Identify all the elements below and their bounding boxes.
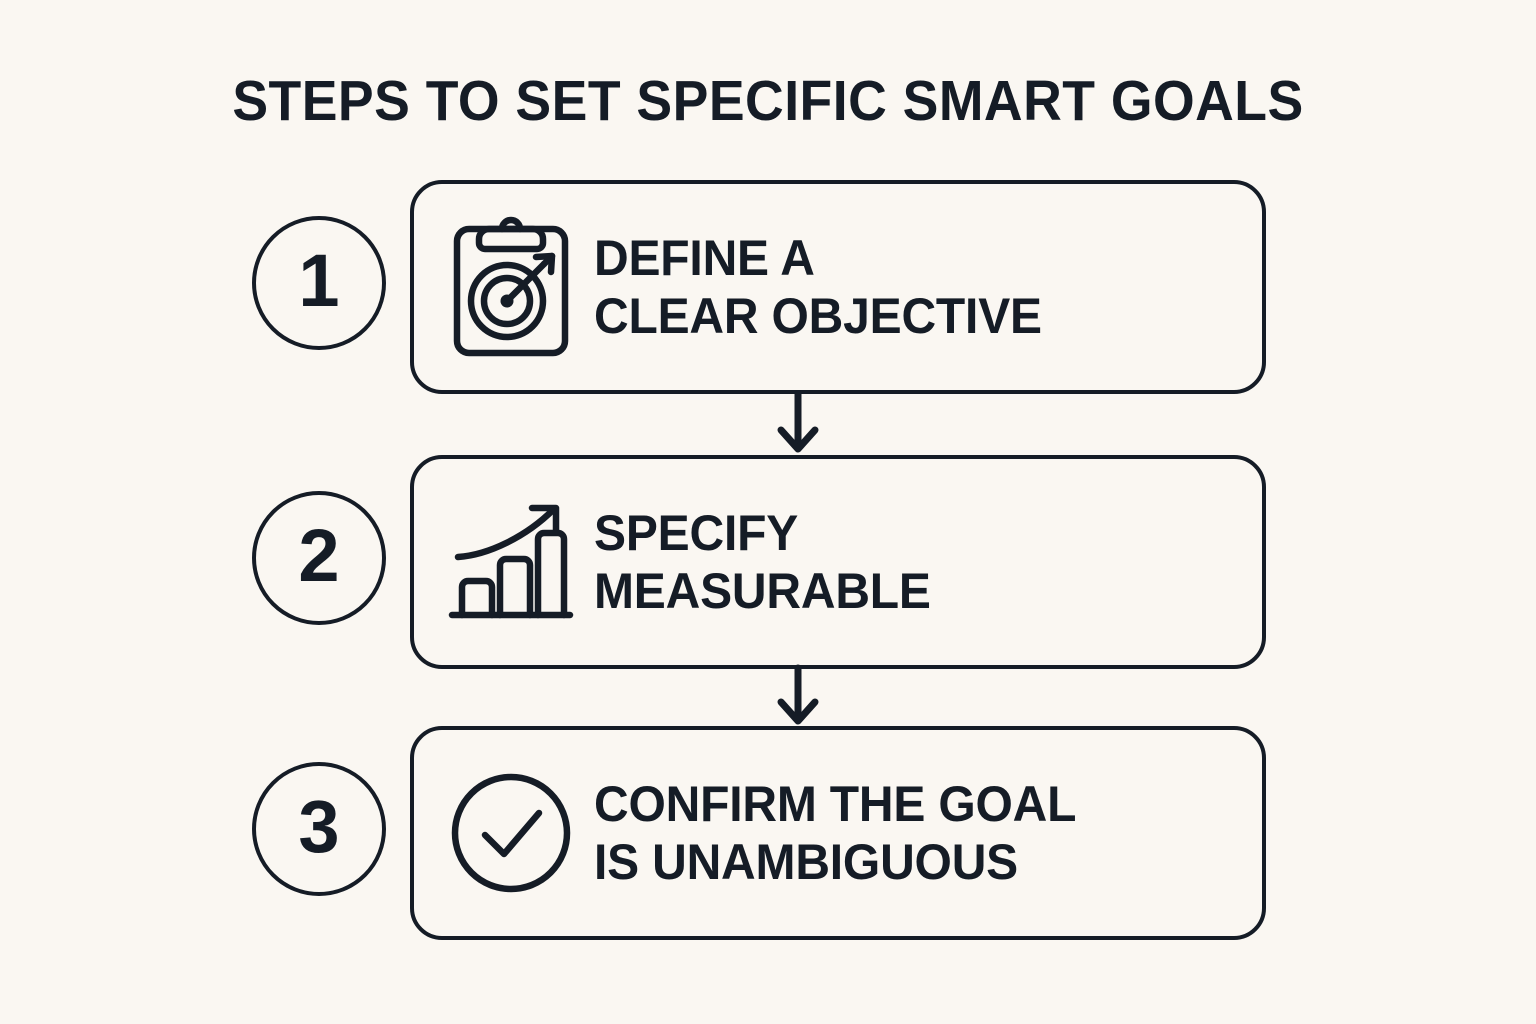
step-card-3[interactable]: CONFIRM THE GOAL IS UNAMBIGUOUS — [410, 726, 1266, 940]
step-number-label-2: 2 — [298, 519, 339, 593]
step-card-2[interactable]: SPECIFY MEASURABLE — [410, 455, 1266, 669]
step-text-line1-1: DEFINE A — [594, 229, 1218, 287]
step-number-label-3: 3 — [298, 790, 339, 864]
step-text-line2-2: MEASURABLE — [594, 562, 1218, 620]
arrow-step-2-to-3 — [770, 668, 780, 728]
page-title: STEPS TO SET SPECIFIC SMART GOALS — [46, 68, 1490, 134]
step-text-line2-3: IS UNAMBIGUOUS — [594, 833, 1218, 891]
infographic-canvas: STEPS TO SET SPECIFIC SMART GOALS 1 — [0, 0, 1536, 1024]
step-number-label-1: 1 — [298, 244, 339, 318]
step-text-line1-2: SPECIFY — [594, 504, 1218, 562]
step-card-1[interactable]: DEFINE A CLEAR OBJECTIVE — [410, 180, 1266, 394]
step-number-badge-2: 2 — [252, 491, 386, 625]
step-text-1: DEFINE A CLEAR OBJECTIVE — [594, 229, 1235, 345]
clipboard-target-icon — [414, 213, 594, 361]
arrow-step-1-to-2 — [770, 394, 780, 456]
step-item-2: 2 SPECIFY MEASURABLE — [252, 455, 1266, 669]
step-number-badge-1: 1 — [252, 216, 386, 350]
step-item-3: 3 CONFIRM THE GOAL IS UNAMBIGUOUS — [252, 726, 1266, 940]
bar-chart-growth-icon — [414, 495, 594, 629]
step-number-badge-3: 3 — [252, 762, 386, 896]
step-text-3: CONFIRM THE GOAL IS UNAMBIGUOUS — [594, 775, 1235, 891]
check-circle-icon — [414, 769, 594, 897]
step-text-2: SPECIFY MEASURABLE — [594, 504, 1235, 620]
step-text-line1-3: CONFIRM THE GOAL — [594, 775, 1218, 833]
step-item-1: 1 DEFINE A CLEAR OBJECTIVE — [252, 180, 1266, 394]
step-text-line2-1: CLEAR OBJECTIVE — [594, 287, 1218, 345]
